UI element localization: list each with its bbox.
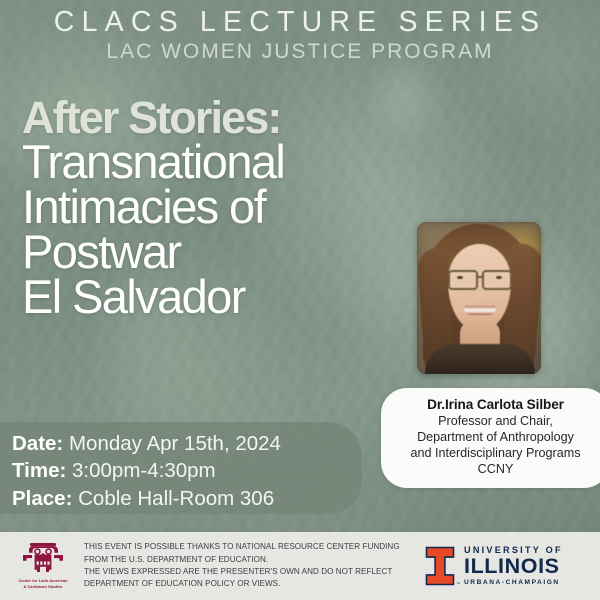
event-poster: CLACS LECTURE SERIES LAC WOMEN JUSTICE P… — [0, 0, 600, 600]
series-title: CLACS LECTURE SERIES — [0, 8, 600, 38]
photo-vignette — [417, 222, 541, 374]
poster-footer: Center for Latin American & Caribbean St… — [0, 532, 600, 600]
title-line-2: Transnational — [22, 140, 422, 185]
trademark-symbol: ™ — [456, 581, 460, 586]
disclaimer-line-1: THIS EVENT IS POSSIBLE THANKS TO NATIONA… — [84, 541, 425, 553]
university-of-illinois-logo: ™ UNIVERSITY OF ILLINOIS URBANA-CHAMPAIG… — [425, 546, 600, 587]
detail-label-time: Time: — [12, 459, 66, 482]
detail-row-date: Date: Monday Apr 15th, 2024 — [12, 430, 281, 457]
title-line-5: El Salvador — [22, 275, 422, 320]
disclaimer-line-2: FROM THE U.S. DEPARTMENT OF EDUCATION. — [84, 554, 425, 566]
title-line-1: After Stories: — [22, 97, 422, 140]
detail-value-time: 3:00pm-4:30pm — [72, 459, 216, 482]
speaker-info-card: Dr.Irina Carlota Silber Professor and Ch… — [381, 388, 600, 488]
detail-value-date: Monday Apr 15th, 2024 — [69, 432, 281, 455]
poster-header: CLACS LECTURE SERIES LAC WOMEN JUSTICE P… — [0, 8, 600, 63]
detail-label-place: Place: — [12, 487, 72, 510]
illinois-wordmark-campus: URBANA-CHAMPAIGN — [464, 580, 563, 587]
detail-row-time: Time: 3:00pm-4:30pm — [12, 457, 281, 484]
event-details: Date: Monday Apr 15th, 2024 Time: 3:00pm… — [12, 430, 281, 512]
detail-label-date: Date: — [12, 432, 63, 455]
clacs-logo: Center for Latin American & Caribbean St… — [0, 542, 74, 591]
disclaimer-line-3: THE VIEWS EXPRESSED ARE THE PRESENTER'S … — [84, 566, 425, 578]
speaker-affiliation: CCNY — [389, 462, 600, 478]
clacs-figure-icon — [17, 542, 69, 578]
illinois-wordmark-main: ILLINOIS — [464, 556, 563, 578]
detail-row-place: Place: Coble Hall-Room 306 — [12, 485, 281, 512]
clacs-caption-line-1: Center for Latin American — [12, 579, 74, 585]
title-line-4: Postwar — [22, 230, 422, 275]
block-i-shape — [425, 546, 455, 586]
illinois-block-i-icon: ™ — [425, 546, 455, 586]
program-subtitle: LAC WOMEN JUSTICE PROGRAM — [0, 41, 600, 63]
title-line-3: Intimacies of — [22, 185, 422, 230]
page-title: After Stories: Transnational Intimacies … — [22, 97, 422, 319]
speaker-name: Dr.Irina Carlota Silber — [389, 397, 600, 414]
detail-value-place: Coble Hall-Room 306 — [78, 487, 274, 510]
speaker-role-line-2: Department of Anthropology — [389, 430, 600, 446]
speaker-role-line-1: Professor and Chair, — [389, 414, 600, 430]
clacs-caption-line-2: & Caribbean Studies — [12, 585, 74, 591]
funding-disclaimer: THIS EVENT IS POSSIBLE THANKS TO NATIONA… — [74, 541, 425, 590]
speaker-role-line-3: and Interdisciplinary Programs — [389, 446, 600, 462]
illinois-wordmark: UNIVERSITY OF ILLINOIS URBANA-CHAMPAIGN — [464, 546, 563, 587]
disclaimer-line-4: DEPARTMENT OF EDUCATION POLICY OR VIEWS. — [84, 578, 425, 590]
speaker-photo — [417, 222, 541, 374]
